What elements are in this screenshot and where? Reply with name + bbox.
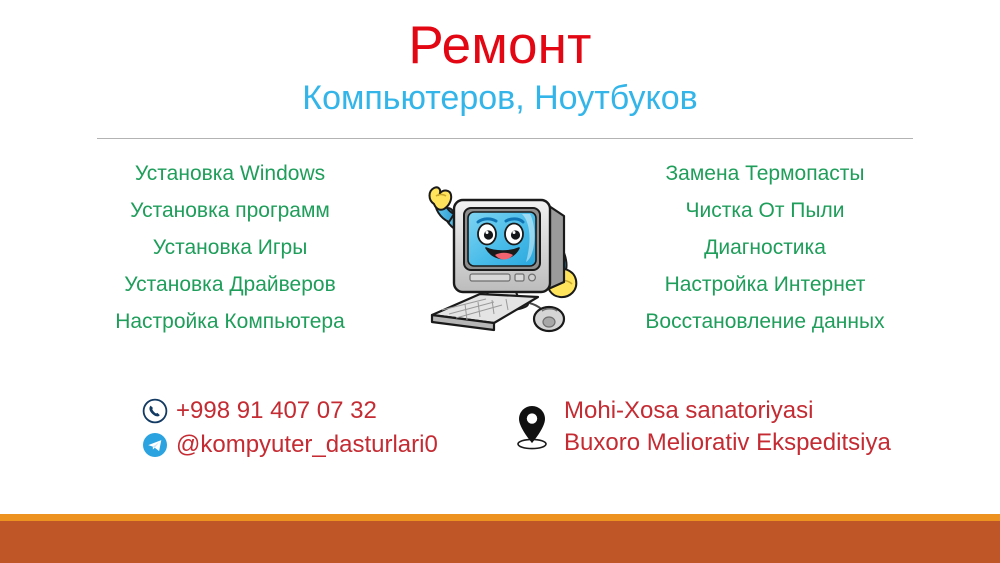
- service-item: Установка Игры: [60, 234, 400, 262]
- contact-block: +998 91 407 07 32 @kompyuter_dasturlari0: [142, 396, 438, 460]
- footer-band: [0, 521, 1000, 563]
- service-item: Восстановление данных: [590, 308, 940, 336]
- page-subtitle: Компьютеров, Ноутбуков: [0, 74, 1000, 117]
- service-item: Установка программ: [60, 197, 400, 225]
- service-item: Установка Драйверов: [60, 271, 400, 299]
- map-pin-icon: [512, 403, 552, 451]
- phone-circle-icon: [142, 398, 168, 424]
- telegram-row[interactable]: @kompyuter_dasturlari0: [142, 430, 438, 460]
- desktop-computer-mascot-icon: [418, 178, 594, 340]
- service-item: Установка Windows: [60, 160, 400, 188]
- phone-number: +998 91 407 07 32: [176, 396, 377, 426]
- address-line-1: Mohi-Xosa sanatoriyasi: [564, 396, 891, 426]
- phone-row[interactable]: +998 91 407 07 32: [142, 396, 438, 426]
- service-item: Диагностика: [590, 234, 940, 262]
- service-item: Замена Термопасты: [590, 160, 940, 188]
- telegram-handle: @kompyuter_dasturlari0: [176, 430, 438, 460]
- business-card: Ремонт Компьютеров, Ноутбуков Установка …: [0, 0, 1000, 563]
- address-lines: Mohi-Xosa sanatoriyasi Buxoro Meliorativ…: [564, 396, 891, 458]
- address-block: Mohi-Xosa sanatoriyasi Buxoro Meliorativ…: [512, 396, 891, 458]
- service-item: Настройка Компьютера: [60, 308, 400, 336]
- service-item: Настройка Интернет: [590, 271, 940, 299]
- address-line-2: Buxoro Meliorativ Ekspeditsiya: [564, 428, 891, 458]
- telegram-icon: [142, 432, 168, 458]
- services-list-left: Установка Windows Установка программ Уст…: [60, 160, 400, 336]
- header: Ремонт Компьютеров, Ноутбуков: [0, 0, 1000, 117]
- header-divider: [97, 138, 913, 139]
- footer-accent-strip: [0, 514, 1000, 521]
- services-list-right: Замена Термопасты Чистка От Пыли Диагнос…: [590, 160, 940, 336]
- page-title: Ремонт: [0, 0, 1000, 74]
- service-item: Чистка От Пыли: [590, 197, 940, 225]
